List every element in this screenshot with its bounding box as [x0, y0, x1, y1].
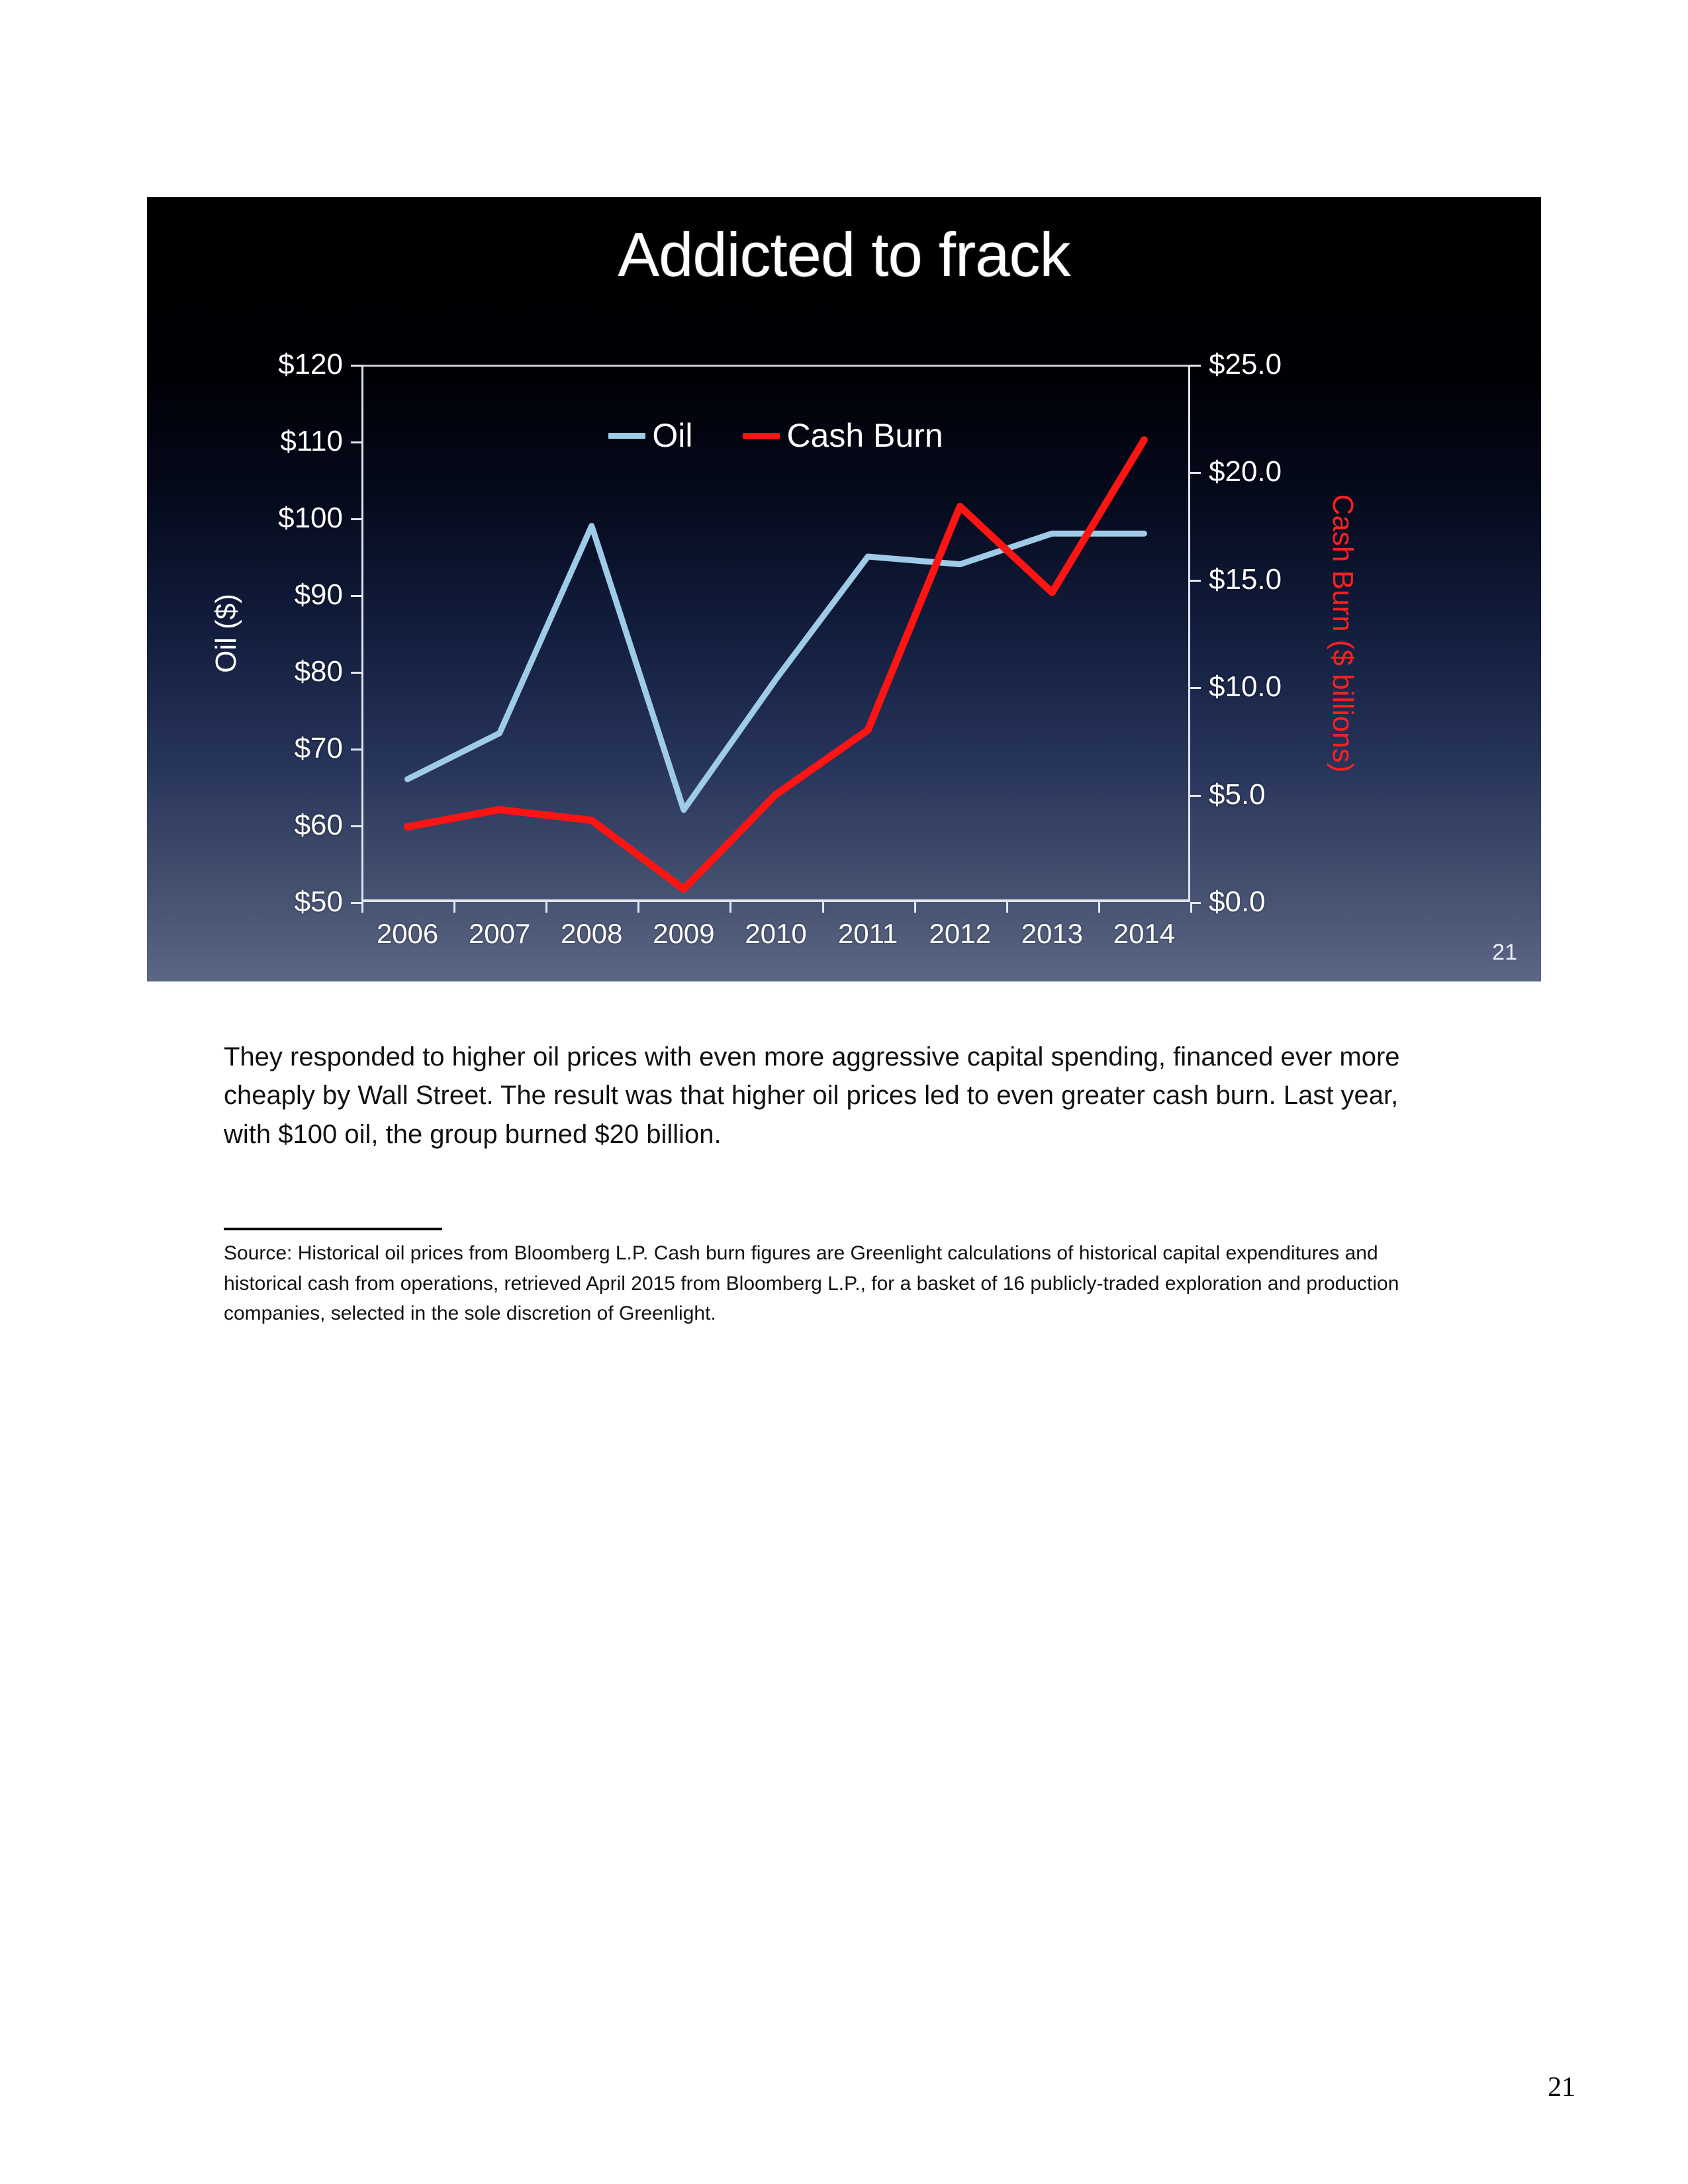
left-tick	[351, 902, 361, 904]
legend-item-cash-burn[interactable]: Cash Burn	[743, 419, 943, 452]
footnote-divider	[224, 1228, 442, 1230]
right-tick-label: $20.0	[1209, 455, 1282, 488]
left-tick-label: $50	[295, 886, 343, 919]
right-tick	[1190, 795, 1201, 797]
left-tick	[351, 825, 361, 827]
body-paragraph: They responded to higher oil prices with…	[224, 1038, 1429, 1154]
x-tick	[453, 902, 455, 913]
x-tick-label: 2013	[1021, 918, 1083, 950]
legend-swatch-icon	[608, 433, 645, 439]
right-tick	[1190, 472, 1201, 474]
left-tick-label: $80	[295, 655, 343, 688]
x-tick-label: 2011	[838, 918, 898, 950]
left-tick	[351, 365, 361, 367]
legend-swatch-icon	[743, 433, 780, 439]
x-tick	[1190, 902, 1192, 913]
right-tick	[1190, 365, 1201, 367]
left-axis-title: Oil ($)	[210, 594, 243, 673]
left-tick-label: $60	[295, 809, 343, 842]
right-axis-title: Cash Burn ($ billions)	[1326, 494, 1359, 773]
left-tick	[351, 518, 361, 520]
x-tick	[822, 902, 824, 913]
x-tick	[729, 902, 731, 913]
right-tick-label: $5.0	[1209, 778, 1266, 811]
left-tick-label: $100	[278, 502, 343, 535]
legend-label: Cash Burn	[786, 419, 943, 452]
right-tick	[1190, 580, 1201, 582]
x-tick	[914, 902, 916, 913]
footnote-text: Source: Historical oil prices from Bloom…	[224, 1238, 1448, 1329]
x-tick	[1098, 902, 1100, 913]
x-tick	[361, 902, 363, 913]
right-tick-label: $25.0	[1209, 348, 1282, 381]
legend-label: Oil	[652, 419, 692, 452]
x-tick-label: 2008	[561, 918, 622, 950]
left-tick-label: $90	[295, 578, 343, 612]
x-tick-label: 2009	[653, 918, 714, 950]
left-tick	[351, 595, 361, 597]
footnote-block: Source: Historical oil prices from Bloom…	[224, 1228, 1448, 1329]
right-tick-label: $10.0	[1209, 670, 1282, 704]
right-tick	[1190, 687, 1201, 689]
legend-item-oil[interactable]: Oil	[608, 419, 692, 452]
chart-legend: OilCash Burn	[361, 419, 1190, 452]
slide-number-badge: 21	[1492, 940, 1517, 966]
right-tick-label: $0.0	[1209, 886, 1266, 919]
left-tick	[351, 672, 361, 674]
document-page: Addicted to frack Oil ($) Cash Burn ($ b…	[0, 0, 1688, 2184]
line-chart: Oil ($) Cash Burn ($ billions) $50$60$70…	[147, 197, 1541, 981]
left-tick	[351, 441, 361, 443]
right-tick-label: $15.0	[1209, 563, 1282, 596]
x-tick-label: 2010	[745, 918, 806, 950]
x-tick-label: 2012	[929, 918, 991, 950]
slide-image: Addicted to frack Oil ($) Cash Burn ($ b…	[147, 197, 1541, 981]
left-tick-label: $70	[295, 732, 343, 765]
left-tick-label: $110	[280, 425, 343, 458]
x-tick-label: 2014	[1113, 918, 1175, 950]
left-tick-label: $120	[278, 348, 343, 381]
x-tick	[637, 902, 639, 913]
x-tick-label: 2007	[469, 918, 530, 950]
x-tick-label: 2006	[377, 918, 438, 950]
series-line-oil	[408, 526, 1145, 810]
x-tick	[545, 902, 547, 913]
series-line-cash-burn	[408, 440, 1145, 889]
left-tick	[351, 749, 361, 751]
page-number: 21	[1548, 2071, 1575, 2103]
x-tick	[1006, 902, 1008, 913]
